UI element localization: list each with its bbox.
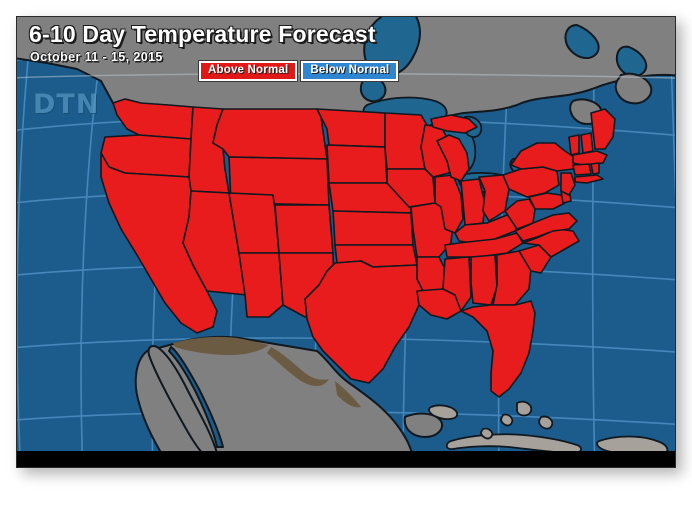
map-frame: DTN 6-10 Day Temperature Forecast Octobe… bbox=[16, 16, 676, 468]
map-canvas[interactable]: DTN 6-10 Day Temperature Forecast Octobe… bbox=[17, 17, 676, 452]
map-bottom-bar bbox=[17, 451, 676, 467]
state-vt bbox=[569, 135, 579, 155]
bahamas-4 bbox=[481, 429, 492, 439]
state-ct bbox=[573, 164, 591, 175]
state-ar bbox=[417, 257, 445, 291]
state-mn bbox=[385, 113, 427, 169]
forecast-map-screenshot: DTN 6-10 Day Temperature Forecast Octobe… bbox=[0, 0, 692, 532]
state-ks bbox=[333, 211, 413, 245]
bahamas-1 bbox=[517, 402, 531, 416]
state-mt bbox=[213, 109, 327, 159]
state-az bbox=[239, 253, 283, 317]
legend: Above Normal Below Normal bbox=[199, 61, 398, 81]
state-al bbox=[471, 255, 497, 305]
bahamas-2 bbox=[539, 417, 552, 429]
state-in bbox=[461, 179, 485, 225]
legend-item-below-normal[interactable]: Below Normal bbox=[301, 61, 398, 81]
legend-item-above-normal[interactable]: Above Normal bbox=[199, 61, 297, 81]
state-nh bbox=[581, 133, 593, 153]
state-ri bbox=[591, 163, 599, 174]
state-co bbox=[275, 205, 333, 253]
bahamas-3 bbox=[501, 415, 512, 426]
state-sd bbox=[327, 145, 387, 183]
